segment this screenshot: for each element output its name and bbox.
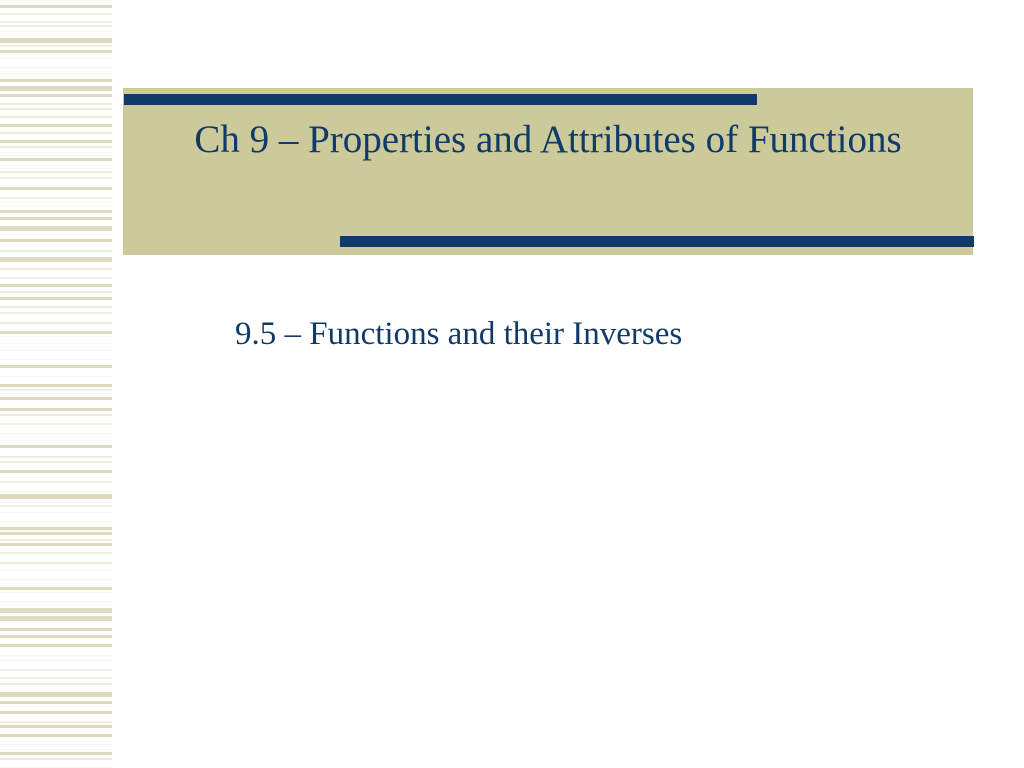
stripe-line — [0, 725, 112, 728]
stripe-line — [0, 749, 112, 750]
stripe-line — [0, 257, 112, 262]
stripe-line — [0, 21, 112, 23]
stripe-line — [0, 108, 112, 110]
stripe-line — [0, 13, 112, 15]
stripe-line — [0, 552, 112, 554]
stripe-line — [0, 67, 112, 68]
stripe-line — [0, 58, 112, 59]
stripe-line — [0, 491, 112, 492]
stripe-line — [0, 539, 112, 541]
stripe-line — [0, 481, 112, 483]
stripe-line — [0, 312, 112, 314]
stripe-line — [0, 217, 112, 220]
stripe-line — [0, 140, 112, 143]
stripe-line — [0, 512, 112, 513]
stripe-line — [0, 336, 112, 337]
stripe-line — [0, 601, 112, 602]
stripe-line — [0, 692, 112, 697]
stripe-line — [0, 124, 112, 127]
stripe-line — [0, 414, 112, 416]
stripe-line — [0, 494, 112, 499]
stripe-line — [0, 433, 112, 434]
stripe-line — [0, 376, 112, 377]
stripe-line — [0, 721, 112, 723]
stripe-line — [0, 268, 112, 270]
stripe-line — [0, 562, 112, 564]
stripe-line — [0, 644, 112, 647]
stripe-line — [0, 408, 112, 411]
stripe-line — [0, 291, 112, 293]
stripe-line — [0, 322, 112, 324]
stripe-line — [0, 331, 112, 334]
stripe-line — [0, 201, 112, 202]
stripe-line — [0, 677, 112, 679]
stripe-line — [0, 521, 112, 522]
slide-title-block: Ch 9 – Properties and Attributes of Func… — [123, 88, 973, 255]
stripe-line — [0, 146, 112, 148]
stripe-line — [0, 587, 112, 590]
stripe-line — [0, 758, 112, 760]
stripe-line — [0, 423, 112, 425]
stripe-line — [0, 527, 112, 530]
stripe-line — [0, 45, 112, 47]
stripe-line — [0, 155, 112, 156]
stripe-line — [0, 31, 112, 32]
stripe-line — [0, 397, 112, 400]
stripe-line — [0, 365, 112, 368]
stripe-line — [0, 132, 112, 134]
stripe-line — [0, 505, 112, 507]
stripe-line — [0, 0, 112, 1]
stripe-line — [0, 616, 112, 621]
stripe-line — [0, 158, 112, 161]
stripe-line — [0, 343, 112, 344]
stripe-line — [0, 297, 112, 300]
stripe-line — [0, 73, 112, 74]
stripe-line — [0, 660, 112, 661]
stripe-line — [0, 683, 112, 685]
stripe-line — [0, 470, 112, 473]
stripe-line — [0, 79, 112, 82]
stripe-line — [0, 116, 112, 118]
stripe-line — [0, 306, 112, 308]
slide-body-block: 9.5 – Functions and their Inverses — [123, 300, 973, 720]
stripe-line — [0, 350, 112, 351]
slide-subtitle: 9.5 – Functions and their Inverses — [235, 312, 975, 356]
stripe-line — [0, 711, 112, 714]
stripe-line — [0, 592, 112, 593]
stripe-line — [0, 152, 112, 153]
title-rule-bottom — [340, 236, 974, 247]
stripe-line — [0, 50, 112, 53]
stripe-line — [0, 655, 112, 656]
stripe-line — [0, 277, 112, 279]
stripe-line — [0, 502, 112, 503]
stripe-line — [0, 701, 112, 704]
stripe-line — [0, 284, 112, 287]
stripe-line — [0, 86, 112, 91]
stripe-line — [0, 250, 112, 252]
stripe-line — [0, 628, 112, 631]
stripe-line — [0, 226, 112, 231]
stripe-line — [0, 187, 112, 190]
stripe-line — [0, 197, 112, 199]
stripe-line — [0, 103, 112, 105]
stripe-line — [0, 5, 112, 8]
stripe-line — [0, 744, 112, 745]
stripe-line — [0, 543, 112, 546]
stripe-line — [0, 393, 112, 394]
stripe-line — [0, 205, 112, 206]
stripe-line — [0, 168, 112, 169]
stripe-line — [0, 38, 112, 43]
stripe-line — [0, 570, 112, 571]
stripe-line — [0, 579, 112, 580]
stripe-line — [0, 389, 112, 391]
stripe-line — [0, 171, 112, 173]
page-title: Ch 9 – Properties and Attributes of Func… — [123, 114, 973, 165]
striped-left-border — [0, 0, 112, 768]
title-rule-top — [124, 94, 757, 105]
stripe-line — [0, 752, 112, 755]
stripe-line — [0, 445, 112, 448]
stripe-line — [0, 25, 112, 27]
stripe-line — [0, 359, 112, 360]
stripe-line — [0, 384, 112, 387]
stripe-line — [0, 734, 112, 737]
stripe-line — [0, 532, 112, 535]
stripe-line — [0, 177, 112, 179]
stripe-line — [0, 94, 112, 97]
stripe-line — [0, 456, 112, 458]
stripe-line — [0, 210, 112, 213]
stripe-line — [0, 440, 112, 441]
stripe-line — [0, 461, 112, 463]
slide-canvas: Ch 9 – Properties and Attributes of Func… — [0, 0, 1024, 768]
stripe-line — [0, 239, 112, 242]
stripe-line — [0, 635, 112, 638]
stripe-line — [0, 669, 112, 671]
stripe-line — [0, 608, 112, 613]
